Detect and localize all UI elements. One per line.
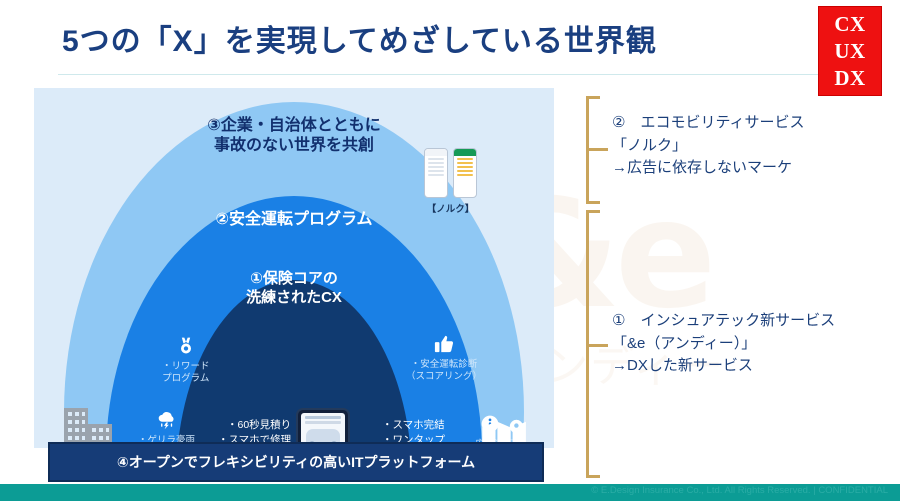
phone-line <box>457 174 473 176</box>
side-score-line1: ・安全運転診断 <box>406 359 482 370</box>
phone-status-bar <box>454 149 476 156</box>
arc-inner-label: ①保険コアの 洗練されたCX <box>34 270 554 308</box>
side-item-score: ・安全運転診断 （スコアリング） <box>406 334 482 382</box>
badge-line-dx: DX <box>834 65 865 91</box>
phone-line <box>457 166 473 168</box>
list-item: ・スマホ完結 <box>382 418 445 433</box>
phone-line <box>428 166 444 168</box>
annotation-insurtech: ① インシュアテック新サービス 「&e（アンディー）」 →DXした新サービス <box>612 310 835 378</box>
side-reward-line2: プログラム <box>162 373 210 384</box>
side-reward-line1: ・リワード <box>162 361 210 372</box>
annotation-line3: →DXした新サービス <box>612 355 835 378</box>
annotation-line1: ② エコモビリティサービス <box>612 112 805 135</box>
annotation-line2: 「ノルク」 <box>612 135 805 158</box>
title-divider <box>58 74 818 75</box>
norc-phone-light <box>424 148 448 198</box>
phone-line <box>457 158 473 160</box>
phone-line <box>428 174 444 176</box>
annotation-eco-mobility: ② エコモビリティサービス 「ノルク」 →広告に依存しないマーケ <box>612 112 805 180</box>
norc-phones-group: 【ノルク】 <box>424 148 477 215</box>
norc-phone-row <box>424 148 477 198</box>
annotation-line2: 「&e（アンディー）」 <box>612 333 835 356</box>
annotation-line1: ① インシュアテック新サービス <box>612 310 835 333</box>
page-title: 5つの「X」を実現してめざしている世界観 <box>62 16 657 60</box>
badge-line-ux: UX <box>834 38 865 64</box>
phone-header-bar <box>305 416 340 419</box>
phone-line <box>305 421 340 424</box>
footer-copyright: © E.Design Insurance Co., Ltd. All Right… <box>591 485 888 496</box>
diagram-panel: ③企業・自治体とともに 事故のない世界を共創 ②安全運転プログラム ①保険コアの… <box>34 88 554 448</box>
medal-icon <box>162 336 210 359</box>
phone-status-bar <box>425 149 447 156</box>
annotation-line3: →広告に依存しないマーケ <box>612 157 805 180</box>
norc-caption: 【ノルク】 <box>424 201 477 215</box>
phone-line <box>428 170 444 172</box>
arc-inner-label-line1: ①保険コアの <box>34 270 554 289</box>
thumbs-up-icon <box>406 334 482 357</box>
slide-root: &e アンディー 5つの「X」を実現してめざしている世界観 CX UX DX ③… <box>0 0 900 501</box>
arc-inner-label-line2: 洗練されたCX <box>34 289 554 308</box>
platform-bar: ④オープンでフレキシビリティの高いITプラットフォーム <box>48 442 544 482</box>
badge-line-cx: CX <box>834 11 865 37</box>
arc-outer-label-line1: ③企業・自治体とともに <box>34 116 554 136</box>
list-item: ・60秒見積り <box>218 418 291 433</box>
footer-bar: © E.Design Insurance Co., Ltd. All Right… <box>0 484 900 501</box>
phone-line <box>428 162 444 164</box>
storm-cloud-icon <box>138 410 195 433</box>
cx-ux-dx-badge: CX UX DX <box>818 6 882 96</box>
side-score-line2: （スコアリング） <box>406 371 482 382</box>
norc-phone-green <box>453 148 477 198</box>
side-item-reward: ・リワード プログラム <box>162 336 210 384</box>
phone-line <box>457 162 473 164</box>
phone-line <box>457 170 473 172</box>
phone-line <box>428 158 444 160</box>
